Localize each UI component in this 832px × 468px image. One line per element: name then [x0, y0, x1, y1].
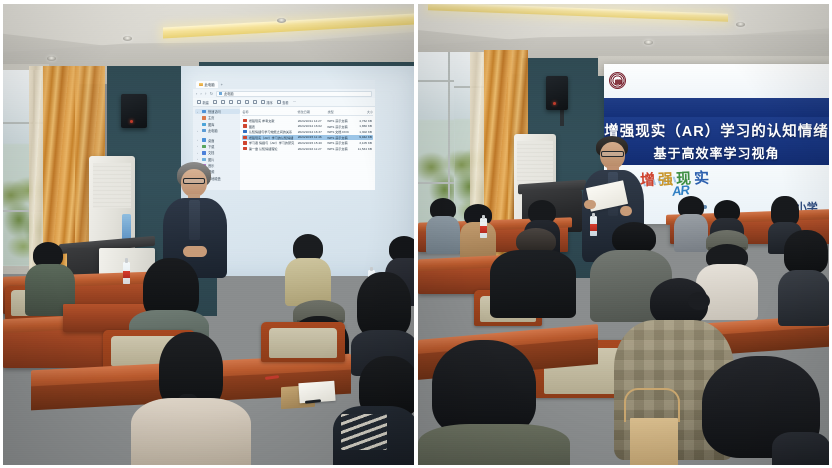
- audience-member: [778, 230, 829, 322]
- star-icon: [202, 110, 206, 113]
- toolbar-new[interactable]: 新建: [197, 100, 209, 105]
- file-size-cell: 1,860 KB: [355, 124, 372, 128]
- table-row[interactable]: 学习者 情绪与（AR）学习的研究 2024/10/15 15:40 WPS 演示…: [242, 140, 373, 146]
- gallery-icon: [202, 123, 206, 126]
- plus-icon: [197, 100, 201, 104]
- speaker-led-icon: [130, 120, 133, 123]
- scissors-icon: [213, 100, 217, 104]
- presenter-hand-left: [584, 200, 596, 209]
- downlight-icon: [277, 18, 286, 23]
- downlight-icon: [644, 40, 653, 45]
- toolbar-share[interactable]: [245, 100, 249, 104]
- file-date-cell: 2024/10/12 16:37: [298, 130, 326, 134]
- file-name-cell: 增强现实 参考文献: [243, 118, 295, 123]
- torso: [490, 250, 576, 318]
- long-hair: [432, 340, 536, 436]
- chair-pad: [269, 328, 337, 358]
- chevron-right-icon: ›: [197, 110, 200, 114]
- column-size[interactable]: 大小: [356, 109, 373, 114]
- share-icon: [245, 100, 249, 104]
- bottle-cap: [370, 267, 374, 271]
- trash-icon: [253, 100, 257, 104]
- back-icon[interactable]: ‹: [196, 92, 197, 96]
- table-row[interactable]: 认知情绪与学习效能之间的关系 2024/10/12 16:37 WPS 文档 D…: [242, 129, 373, 135]
- table-row[interactable]: 第一章 认知情绪理论 2024/10/16 11:27 WPS 演示文稿 11,…: [242, 146, 373, 152]
- pc-icon: [219, 92, 222, 95]
- audience-member: [426, 198, 460, 252]
- sidebar-item-downloads[interactable]: › 下载: [195, 144, 240, 149]
- toolbar-paste[interactable]: [229, 100, 233, 104]
- toolbar-copy[interactable]: [221, 100, 225, 104]
- ppt-file-icon: [243, 141, 247, 144]
- wall-speaker-icon: [546, 76, 568, 110]
- bottle-label: [480, 226, 487, 232]
- file-type-cell: WPS 演示文稿: [327, 135, 353, 140]
- column-type[interactable]: 类型: [328, 109, 355, 114]
- toolbar-view[interactable]: 查看: [277, 100, 289, 105]
- file-date-cell: 2024/10/11 14:27: [298, 119, 326, 123]
- file-name-cell: 认知情绪与学习效能之间的关系: [243, 129, 295, 134]
- ppt-file-icon: [243, 124, 247, 127]
- audience-member: [333, 356, 414, 465]
- toolbar-cut[interactable]: [213, 100, 217, 104]
- sort-icon: [261, 100, 265, 104]
- chevron-right-icon: ›: [197, 129, 200, 133]
- file-date-cell: 2024/10/15 11:46: [298, 135, 326, 139]
- photo-composite: 此电脑 + ‹ › ↑ ↻ 此电脑 新建: [0, 0, 832, 468]
- paste-icon: [229, 100, 233, 104]
- file-date-cell: 2024/10/15 15:40: [298, 141, 326, 145]
- audience-member-foreground: [418, 340, 570, 465]
- downlight-icon: [123, 36, 132, 41]
- torso: [778, 270, 829, 326]
- torso: [285, 258, 331, 306]
- sidebar-item-gallery[interactable]: 图库: [195, 122, 240, 127]
- file-type-cell: WPS 文档 DOC: [327, 129, 353, 134]
- up-icon[interactable]: ↑: [205, 92, 207, 96]
- handbag: [630, 418, 678, 465]
- chevron-right-icon: ›: [197, 138, 200, 142]
- file-name-cell: 学习者 情绪与（AR）学习的研究: [243, 140, 295, 145]
- collar-stripes: [341, 414, 387, 450]
- desktop-icon: [202, 138, 206, 141]
- slide-header: [604, 64, 829, 98]
- explorer-toolbar: 新建 排序 查看 ···: [193, 98, 375, 107]
- glasses-icon: [183, 178, 205, 184]
- pictures-icon: [202, 158, 206, 161]
- explorer-filelist: 名称 修改日期 类型 大小 增强现实 参考文献 2024/10/11 14:27: [240, 107, 375, 190]
- file-type-cell: WPS 演示文稿: [327, 124, 353, 129]
- ppt-file-icon: [243, 147, 247, 150]
- breadcrumb[interactable]: 此电脑: [216, 91, 372, 97]
- sidebar-item-thispc[interactable]: › 此电脑: [195, 128, 240, 133]
- chevron-right-icon: ›: [197, 157, 200, 161]
- documents-icon: [202, 151, 206, 154]
- sidebar-item-desktop[interactable]: › 桌面: [195, 138, 240, 143]
- downlight-icon: [736, 22, 745, 27]
- table-row-selected[interactable]: 增强现实（AR）学习的认知情绪 2024/10/15 11:46 WPS 演示文…: [242, 135, 373, 141]
- audience-member-foreground: [702, 356, 829, 465]
- file-size-cell: 1,302 KB: [355, 130, 372, 134]
- left-photo: 此电脑 + ‹ › ↑ ↻ 此电脑 新建: [3, 4, 414, 465]
- bottle-cap: [125, 258, 129, 262]
- presenter-shirt: [189, 200, 200, 240]
- toolbar-rename[interactable]: [237, 100, 241, 104]
- presenter-hand-right: [620, 206, 632, 216]
- ac-grille: [517, 141, 552, 185]
- torso: [131, 398, 251, 465]
- bottle-cap: [482, 215, 486, 219]
- new-tab-icon[interactable]: +: [221, 82, 223, 87]
- long-hair: [784, 230, 828, 274]
- file-type-cell: WPS 演示文稿: [327, 140, 353, 145]
- audience-member: [285, 234, 331, 302]
- file-name-cell: 图表: [243, 124, 295, 129]
- file-type-cell: WPS 演示文稿: [327, 118, 353, 123]
- slide-title-line-2: 基于高效率学习视角: [653, 143, 779, 162]
- toolbar-delete[interactable]: [253, 100, 257, 104]
- ac-badge: [122, 214, 131, 240]
- calligraphy-char-4: 实: [694, 170, 713, 188]
- refresh-icon[interactable]: ↻: [210, 92, 213, 96]
- table-row[interactable]: 增强现实 参考文献 2024/10/11 14:27 WPS 演示文稿 4,76…: [242, 118, 373, 124]
- ppt-file-icon: [243, 119, 247, 122]
- file-size-cell: 11,534 KB: [355, 147, 372, 151]
- ppt-file-icon: [243, 136, 247, 139]
- long-hair: [357, 272, 411, 338]
- file-size-cell: 9,042 KB: [355, 135, 372, 139]
- download-icon: [202, 145, 206, 148]
- glasses-icon: [601, 151, 624, 157]
- file-name-cell: 第一章 认知情绪理论: [243, 146, 295, 151]
- file-size-cell: 3,105 KB: [355, 141, 372, 145]
- chevron-right-icon: ›: [197, 151, 200, 155]
- view-icon: [277, 100, 281, 104]
- file-date-cell: 2024/10/16 11:27: [298, 147, 326, 151]
- table-row[interactable]: 图表 2024/10/12 16:02 WPS 演示文稿 1,860 KB: [242, 123, 373, 129]
- file-type-cell: WPS 演示文稿: [327, 146, 353, 151]
- explorer-addressbar: ‹ › ↑ ↻ 此电脑: [193, 89, 375, 98]
- filelist-header: 名称 修改日期 类型 大小: [242, 109, 373, 116]
- chevron-right-icon: ›: [197, 144, 200, 148]
- explorer-tab-label: 此电脑: [205, 82, 215, 87]
- downlight-icon: [47, 56, 56, 61]
- sidebar-item-quickaccess[interactable]: › 快速访问: [195, 109, 240, 114]
- sidebar-item-home[interactable]: 主页: [195, 115, 240, 120]
- folder-icon: [199, 83, 203, 86]
- copy-icon: [221, 100, 225, 104]
- file-name-cell: 增强现实（AR）学习的认知情绪: [243, 135, 295, 140]
- column-date[interactable]: 修改日期: [298, 109, 326, 114]
- toolbar-sort[interactable]: 排序: [261, 100, 273, 105]
- pc-icon: [202, 129, 206, 132]
- handbag-handle: [624, 388, 680, 422]
- speaker-led-icon: [553, 102, 556, 105]
- column-name[interactable]: 名称: [242, 109, 295, 114]
- file-size-cell: 4,762 KB: [355, 119, 372, 123]
- explorer-tab[interactable]: 此电脑: [196, 81, 218, 88]
- audience-member: [25, 242, 75, 312]
- explorer-tabbar: 此电脑 +: [193, 80, 375, 89]
- water-bottle: [480, 218, 487, 238]
- ac-grille: [93, 163, 132, 208]
- presenter-hands: [183, 246, 207, 257]
- torso: [426, 216, 460, 254]
- rename-icon: [237, 100, 241, 104]
- speaker-mount: [560, 108, 564, 126]
- right-photo: 增强现实（AR）学习的认知情绪 基于高效率学习视角 增强现实 AR 区小学: [418, 4, 829, 465]
- slide-accent-band: [604, 98, 829, 117]
- forward-icon[interactable]: ›: [200, 92, 201, 96]
- doc-file-icon: [243, 130, 247, 133]
- toolbar-more[interactable]: ···: [293, 100, 296, 104]
- bottle-cap: [592, 213, 596, 217]
- wall-speaker-icon: [121, 94, 147, 128]
- file-date-cell: 2024/10/12 16:02: [298, 124, 326, 128]
- torso: [418, 424, 570, 465]
- home-icon: [202, 116, 206, 119]
- torso: [772, 432, 829, 465]
- audience-member-foreground: [131, 332, 251, 465]
- university-crest-icon: [609, 72, 626, 89]
- audience-member: [490, 228, 576, 314]
- hair-bun-knot: [688, 292, 710, 310]
- breadcrumb-value: 此电脑: [224, 91, 234, 96]
- sidebar-item-documents[interactable]: › 文档: [195, 150, 240, 155]
